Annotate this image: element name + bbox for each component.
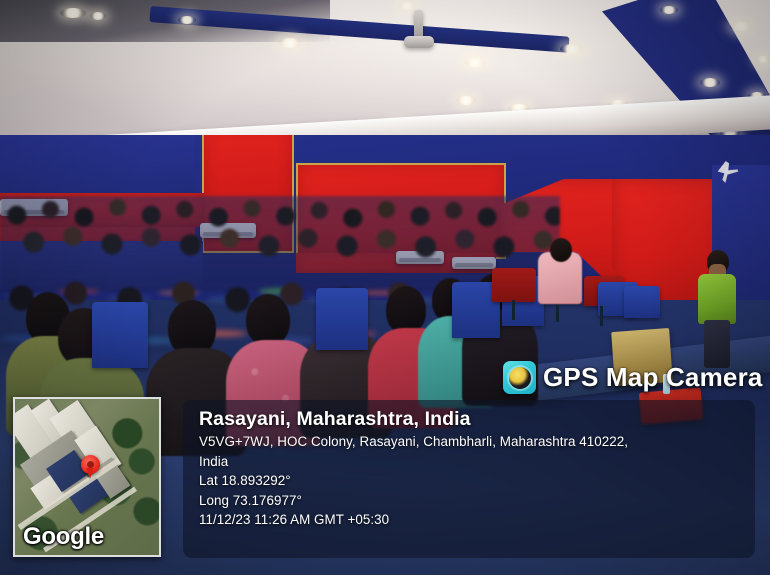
location-timestamp: 11/12/23 11:26 AM GMT +05:30 — [199, 510, 741, 530]
gps-map-camera-brand: GPS Map Camera — [503, 361, 763, 394]
chair — [92, 302, 148, 368]
chair-leg — [600, 306, 603, 326]
chair — [316, 288, 368, 350]
ceiling-light — [700, 78, 720, 87]
location-latitude: Lat 18.893292° — [199, 471, 741, 491]
map-thumbnail[interactable]: Google — [13, 397, 161, 557]
ceiling-light — [560, 44, 584, 54]
location-info-panel: Rasayani, Maharashtra, India V5VG+7WJ, H… — [183, 400, 755, 558]
ceiling-light — [660, 6, 678, 14]
chair-leg — [556, 302, 559, 322]
ceiling-light — [278, 38, 302, 48]
chair-leg — [512, 300, 515, 320]
map-pin-icon — [81, 455, 100, 474]
location-address-line-1: V5VG+7WJ, HOC Colony, Rasayani, Chambhar… — [199, 432, 741, 452]
app-name: GPS Map Camera — [543, 362, 763, 393]
location-title: Rasayani, Maharashtra, India — [199, 407, 741, 432]
ceiling-light — [730, 22, 752, 31]
audience-person-head — [246, 294, 290, 346]
google-watermark: Google — [23, 523, 104, 551]
chair — [492, 268, 536, 302]
ceiling-light — [756, 56, 770, 63]
ceiling-light — [398, 2, 416, 10]
ceiling-light — [456, 96, 476, 105]
chair — [624, 286, 660, 318]
location-address-line-2: India — [199, 452, 741, 472]
audience-person-head — [386, 286, 426, 334]
ceiling-light — [90, 12, 106, 20]
presenter — [696, 250, 736, 360]
camera-lens-icon — [503, 361, 536, 394]
ceiling-light — [464, 58, 486, 67]
audience-person-head — [550, 238, 572, 262]
ceiling-light — [60, 8, 86, 18]
location-longitude: Long 73.176977° — [199, 491, 741, 511]
ceiling-projector — [404, 36, 434, 48]
ceiling-light — [178, 16, 196, 24]
geotagged-photo: GPS Map Camera Google Rasayani, Maharash… — [0, 0, 770, 575]
